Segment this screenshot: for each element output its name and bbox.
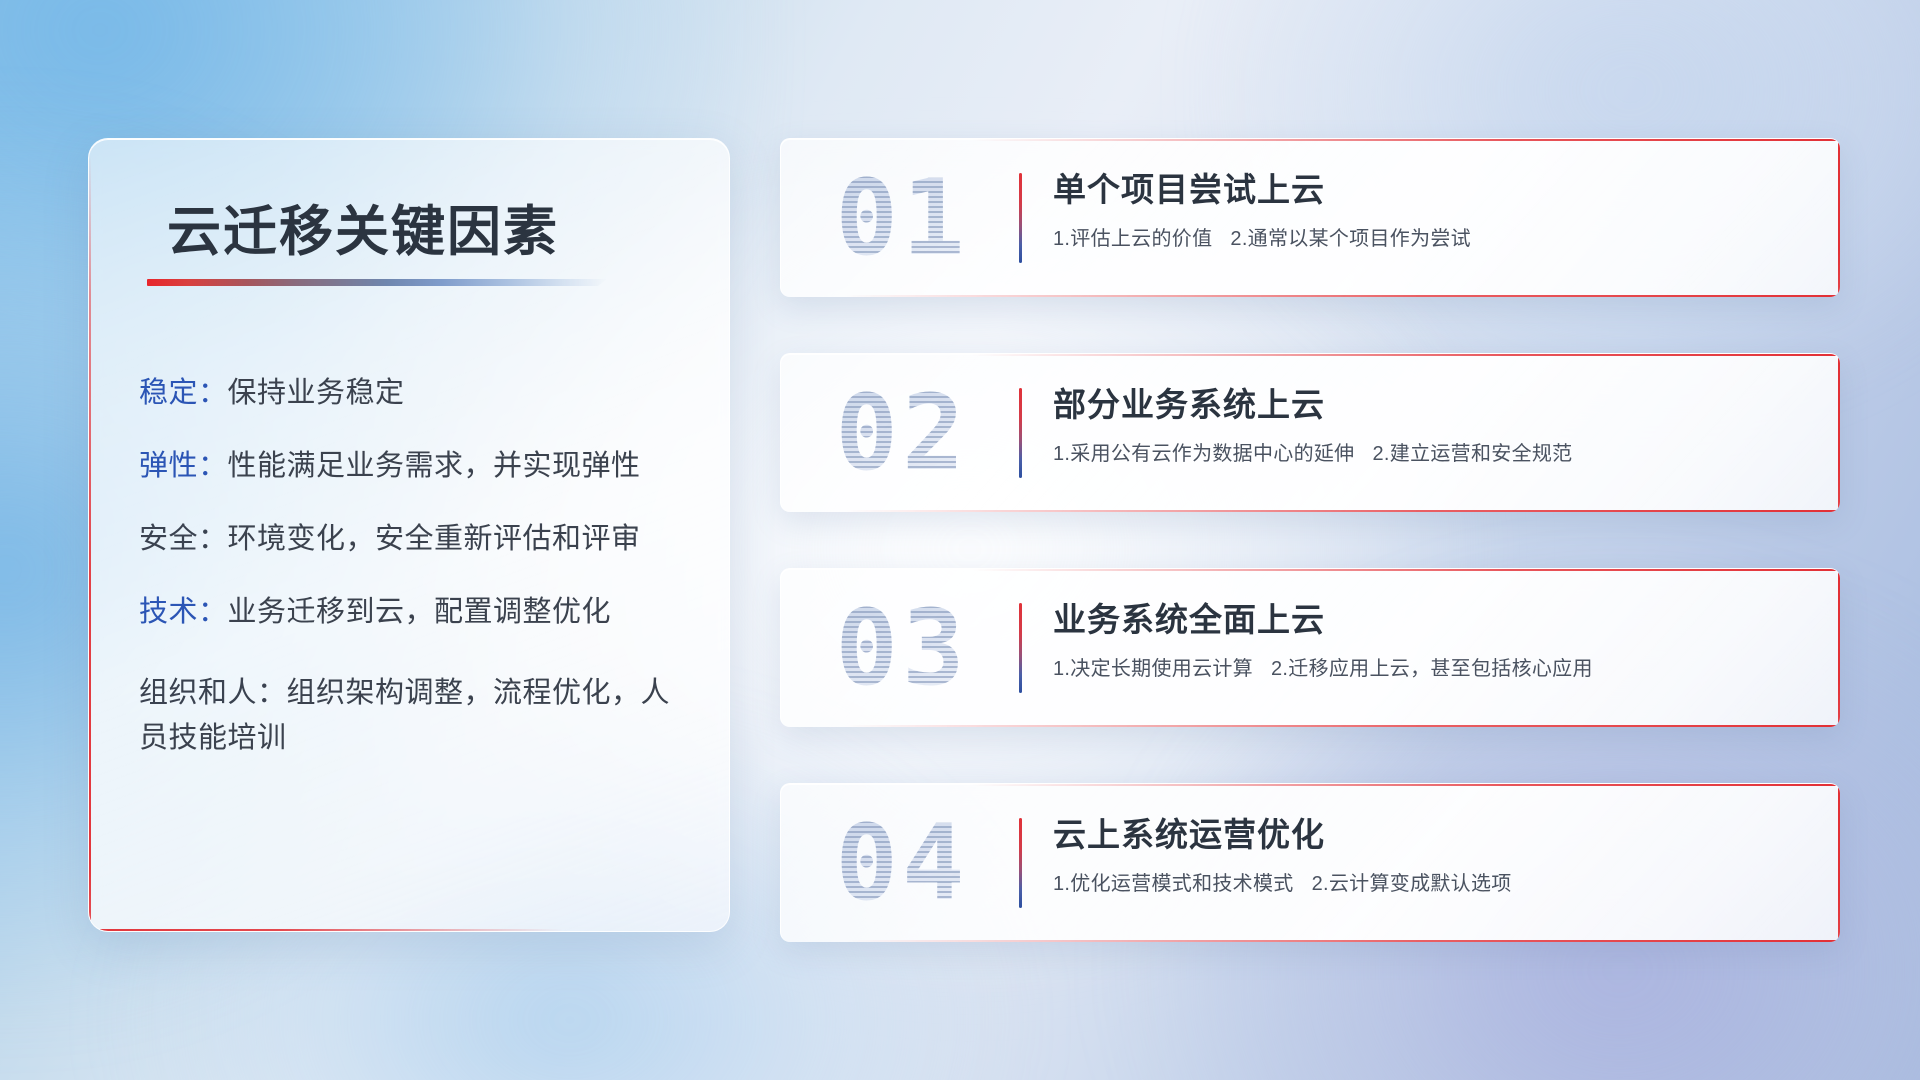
card-subtitle: 1.评估上云的价值2.通常以某个项目作为尝试 xyxy=(1053,226,1800,252)
list-item: 技术：业务迁移到云，配置调整优化 xyxy=(139,598,697,627)
card-number-watermark: 04 xyxy=(807,803,997,923)
card-title: 业务系统全面上云 xyxy=(1053,599,1800,640)
card-divider-bar xyxy=(1019,388,1022,478)
card-accent-bottom xyxy=(845,940,1840,942)
card-accent-top xyxy=(972,784,1840,786)
stage-card[interactable]: 04 云上系统运营优化 1.优化运营模式和技术模式2.云计算变成默认选项 xyxy=(780,783,1840,942)
card-accent-top xyxy=(972,569,1840,571)
card-divider-bar xyxy=(1019,173,1022,263)
card-number-text: 02 xyxy=(835,381,968,485)
card-number-text: 01 xyxy=(835,166,968,270)
slide-canvas: 云迁移关键因素 稳定：保持业务稳定 弹性：性能满足业务需求，并实现弹性 安全：环… xyxy=(0,0,1920,1080)
key-factors-list: 稳定：保持业务稳定 弹性：性能满足业务需求，并实现弹性 安全：环境变化，安全重新… xyxy=(139,379,697,761)
card-title: 云上系统运营优化 xyxy=(1053,814,1800,855)
card-body: 云上系统运营优化 1.优化运营模式和技术模式2.云计算变成默认选项 xyxy=(1053,814,1800,897)
card-point-1: 1.评估上云的价值 xyxy=(1053,228,1212,250)
list-item-value: 业务迁移到云，配置调整优化 xyxy=(228,596,612,628)
card-point-1: 1.决定长期使用云计算 xyxy=(1053,658,1253,680)
card-point-1: 1.采用公有云作为数据中心的延伸 xyxy=(1053,443,1354,465)
list-item: 弹性：性能满足业务需求，并实现弹性 xyxy=(139,452,697,481)
card-body: 部分业务系统上云 1.采用公有云作为数据中心的延伸2.建立运营和安全规范 xyxy=(1053,384,1800,467)
card-point-2: 2.云计算变成默认选项 xyxy=(1312,873,1512,895)
list-item-key: 稳定： xyxy=(139,377,228,409)
list-item: 稳定：保持业务稳定 xyxy=(139,379,697,408)
card-number-text: 04 xyxy=(835,811,968,915)
card-title: 单个项目尝试上云 xyxy=(1053,169,1800,210)
card-accent-right xyxy=(1838,784,1840,942)
card-divider-bar xyxy=(1019,818,1022,908)
panel-title: 云迁移关键因素 xyxy=(167,187,559,266)
title-underline-gradient xyxy=(147,279,607,286)
list-item: 安全：环境变化，安全重新评估和评审 xyxy=(139,525,697,554)
list-item-key: 组织和人： xyxy=(139,677,287,709)
card-point-2: 2.迁移应用上云，甚至包括核心应用 xyxy=(1271,658,1593,680)
list-item-value: 环境变化，安全重新评估和评审 xyxy=(228,523,641,555)
card-point-2: 2.建立运营和安全规范 xyxy=(1372,443,1572,465)
card-number-watermark: 01 xyxy=(807,158,997,278)
card-body: 单个项目尝试上云 1.评估上云的价值2.通常以某个项目作为尝试 xyxy=(1053,169,1800,252)
card-accent-bottom xyxy=(845,725,1840,727)
list-item-value: 保持业务稳定 xyxy=(228,377,405,409)
card-accent-top xyxy=(972,354,1840,356)
stage-card[interactable]: 03 业务系统全面上云 1.决定长期使用云计算2.迁移应用上云，甚至包括核心应用 xyxy=(780,568,1840,727)
stage-card[interactable]: 02 部分业务系统上云 1.采用公有云作为数据中心的延伸2.建立运营和安全规范 xyxy=(780,353,1840,512)
card-point-2: 2.通常以某个项目作为尝试 xyxy=(1230,228,1471,250)
card-accent-bottom xyxy=(845,510,1840,512)
list-item-key: 技术： xyxy=(139,596,228,628)
card-accent-right xyxy=(1838,139,1840,297)
card-point-1: 1.优化运营模式和技术模式 xyxy=(1053,873,1294,895)
list-item-key: 弹性： xyxy=(139,450,228,482)
card-number-watermark: 03 xyxy=(807,588,997,708)
card-number-text: 03 xyxy=(835,596,968,700)
card-accent-bottom xyxy=(845,295,1840,297)
key-factors-panel: 云迁移关键因素 稳定：保持业务稳定 弹性：性能满足业务需求，并实现弹性 安全：环… xyxy=(88,138,730,932)
stage-cards-list: 01 单个项目尝试上云 1.评估上云的价值2.通常以某个项目作为尝试 02 部分… xyxy=(780,138,1840,942)
card-body: 业务系统全面上云 1.决定长期使用云计算2.迁移应用上云，甚至包括核心应用 xyxy=(1053,599,1800,682)
list-item-key: 安全： xyxy=(139,523,228,555)
card-accent-right xyxy=(1838,569,1840,727)
card-subtitle: 1.决定长期使用云计算2.迁移应用上云，甚至包括核心应用 xyxy=(1053,656,1800,682)
card-accent-right xyxy=(1838,354,1840,512)
card-subtitle: 1.采用公有云作为数据中心的延伸2.建立运营和安全规范 xyxy=(1053,441,1800,467)
stage-card[interactable]: 01 单个项目尝试上云 1.评估上云的价值2.通常以某个项目作为尝试 xyxy=(780,138,1840,297)
card-title: 部分业务系统上云 xyxy=(1053,384,1800,425)
card-subtitle: 1.优化运营模式和技术模式2.云计算变成默认选项 xyxy=(1053,871,1800,897)
card-divider-bar xyxy=(1019,603,1022,693)
list-item-value: 性能满足业务需求，并实现弹性 xyxy=(228,450,641,482)
card-accent-top xyxy=(972,139,1840,141)
card-number-watermark: 02 xyxy=(807,373,997,493)
list-item: 组织和人：组织架构调整，流程优化，人员技能培训 xyxy=(139,671,697,761)
